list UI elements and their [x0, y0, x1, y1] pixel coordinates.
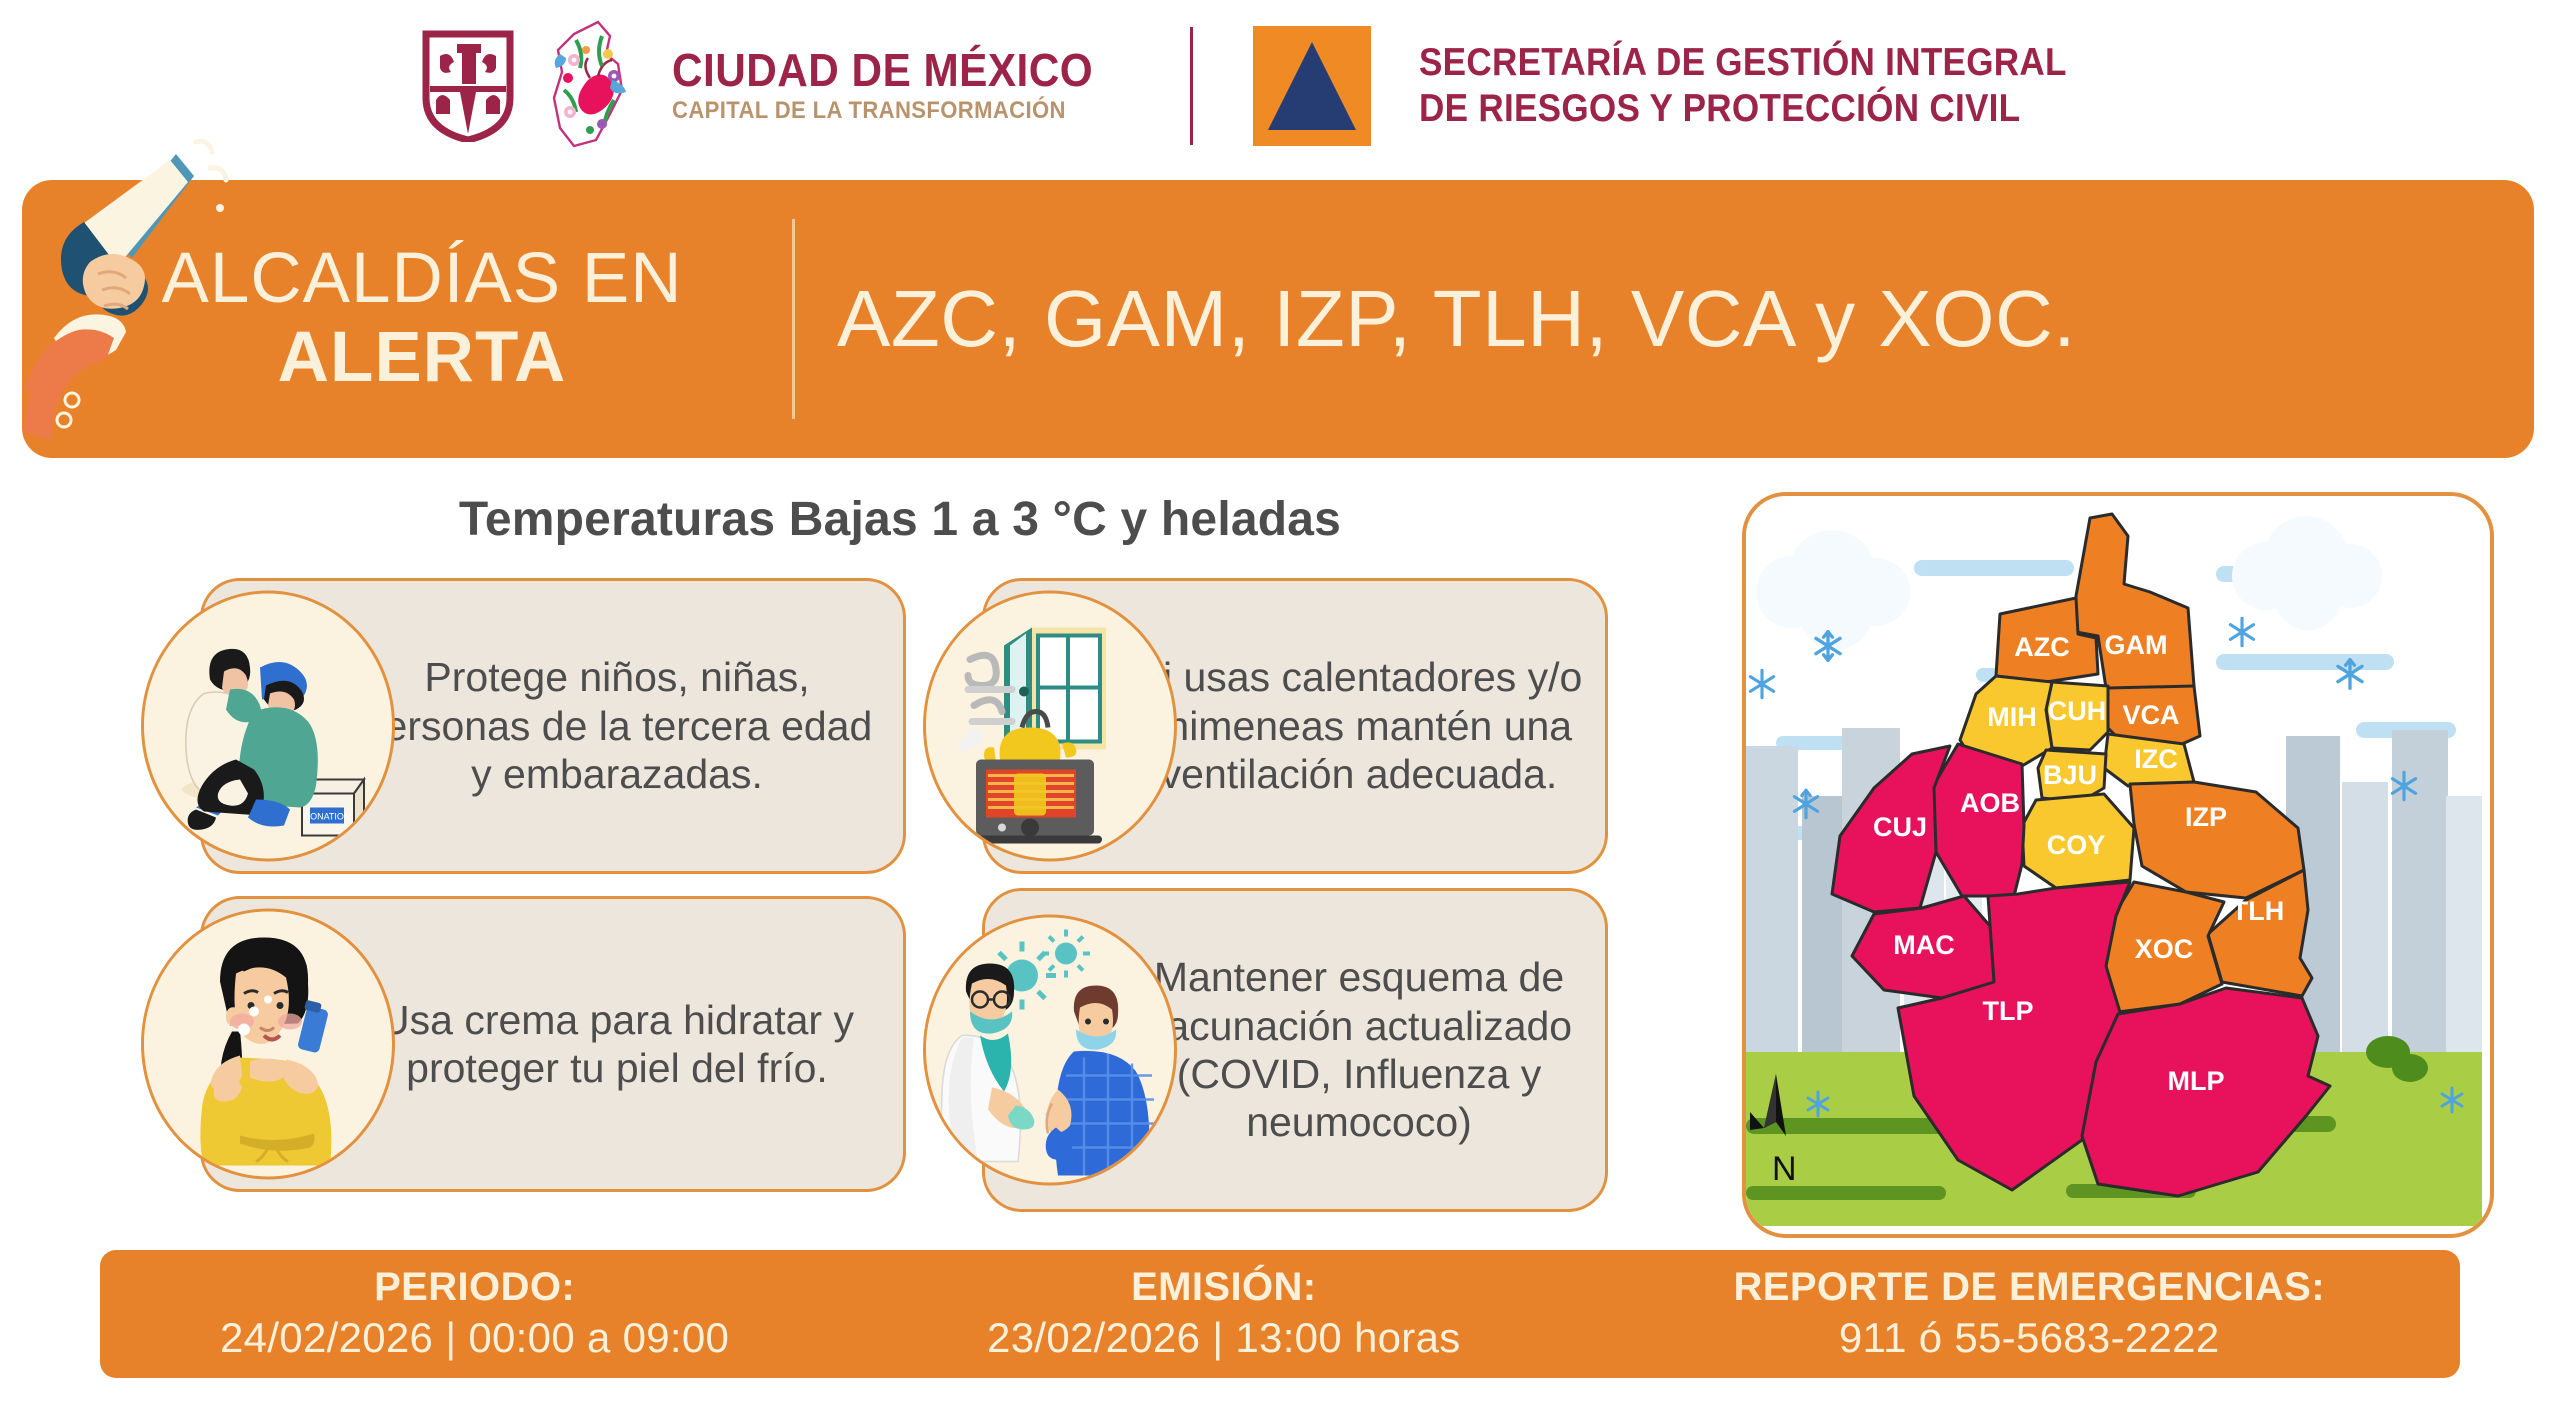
agency-name-line2: DE RIESGOS Y PROTECCIÓN CIVIL	[1419, 86, 2067, 132]
footer-periodo: PERIODO: 24/02/2026 | 00:00 a 09:00	[100, 1250, 849, 1378]
tip-card-ventilation: Si usas calentadores y/o chimeneas manté…	[982, 578, 1608, 874]
map-label-AZC: AZC	[2014, 632, 2070, 662]
cdmx-title: CIUDAD DE MÉXICO	[672, 47, 1093, 94]
skin-cream-icon	[141, 909, 395, 1180]
family-protection-icon: DONATION	[141, 591, 395, 862]
tip-card-family: DONATION Protege niños, niñas, personas	[200, 578, 906, 874]
footer-emergencias: REPORTE DE EMERGENCIAS: 911 ó 55-5683-22…	[1598, 1250, 2460, 1378]
agency-name-line1: SECRETARÍA DE GESTIÓN INTEGRAL	[1419, 40, 2067, 86]
megaphone-icon	[18, 132, 268, 462]
cdmx-floral-map-icon	[540, 20, 640, 152]
tip-card-skincream: Usa crema para hidratar y proteger tu pi…	[200, 896, 906, 1192]
map-svg: AZC GAM MIH CUH VCA IZC BJU AOB CUJ IZP …	[1746, 496, 2482, 1226]
cdmx-alert-map: AZC GAM MIH CUH VCA IZC BJU AOB CUJ IZP …	[1742, 492, 2494, 1238]
page-header: CIUDAD DE MÉXICO CAPITAL DE LA TRANSFORM…	[0, 0, 2560, 172]
map-label-TLP: TLP	[1983, 996, 2034, 1026]
emergencias-label: REPORTE DE EMERGENCIAS:	[1733, 1265, 2325, 1309]
compass-label: N	[1772, 1150, 1797, 1188]
tips-container: DONATION Protege niños, niñas, personas	[110, 570, 1690, 1220]
map-label-IZC: IZC	[2134, 744, 2178, 774]
map-label-IZP: IZP	[2185, 802, 2227, 832]
alert-title: Temperaturas Bajas 1 a 3 °C y heladas	[110, 492, 1690, 547]
footer-emision: EMISIÓN: 23/02/2026 | 13:00 horas	[849, 1250, 1598, 1378]
banner-label-line2: ALERTA	[278, 321, 567, 396]
map-label-AOB: AOB	[1960, 788, 2020, 818]
map-label-CUH: CUH	[2048, 696, 2107, 726]
map-label-MIH: MIH	[1987, 702, 2037, 732]
footer-bar: PERIODO: 24/02/2026 | 00:00 a 09:00 EMIS…	[100, 1250, 2460, 1378]
header-divider	[1190, 27, 1193, 145]
map-label-VCA: VCA	[2122, 700, 2179, 730]
map-label-MLP: MLP	[2168, 1066, 2225, 1096]
periodo-label: PERIODO:	[374, 1265, 575, 1309]
svg-text:DONATION: DONATION	[304, 812, 351, 822]
alert-banner: ALCALDÍAS EN ALERTA AZC, GAM, IZP, TLH, …	[22, 180, 2534, 458]
map-label-MAC: MAC	[1893, 930, 1955, 960]
map-label-CUJ: CUJ	[1873, 812, 1927, 842]
heater-window-ventilation-icon	[923, 591, 1177, 862]
emergencias-value: 911 ó 55-5683-2222	[1839, 1313, 2220, 1363]
tip-card-vaccination: Mantener esquema de vacunación actualiza…	[982, 888, 1608, 1212]
emision-label: EMISIÓN:	[1131, 1265, 1316, 1309]
map-label-GAM: GAM	[2105, 630, 2168, 660]
emision-value: 23/02/2026 | 13:00 horas	[987, 1313, 1461, 1363]
cdmx-coat-of-arms-icon	[422, 30, 514, 142]
periodo-value: 24/02/2026 | 00:00 a 09:00	[220, 1313, 729, 1363]
civil-protection-triangle-icon	[1253, 26, 1371, 146]
map-label-BJU: BJU	[2043, 760, 2097, 790]
map-label-TLH: TLH	[2232, 896, 2284, 926]
map-label-COY: COY	[2047, 830, 2106, 860]
map-label-XOC: XOC	[2135, 934, 2194, 964]
vaccination-icon	[923, 915, 1177, 1186]
banner-separator	[792, 219, 795, 419]
cdmx-subtitle: CAPITAL DE LA TRANSFORMACIÓN	[672, 97, 1093, 125]
alcaldias-list: AZC, GAM, IZP, TLH, VCA y XOC.	[837, 273, 2076, 365]
